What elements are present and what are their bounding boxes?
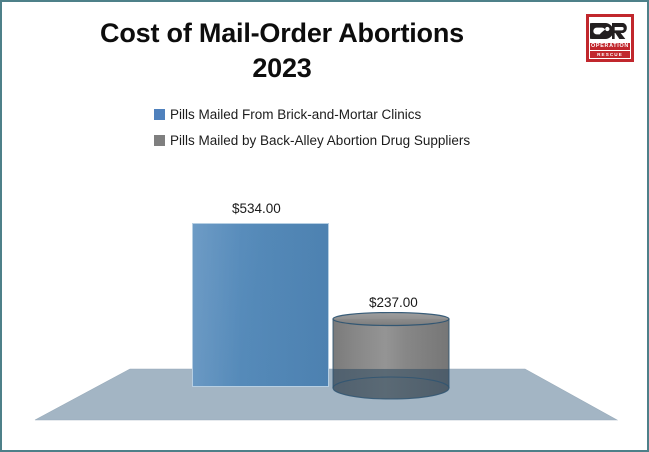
bar-gray-suppliers[interactable] [332,312,450,402]
data-label-gray: $237.00 [369,295,418,310]
data-label-blue: $534.00 [232,201,281,216]
bar-blue-clinics[interactable] [192,223,329,387]
plot-area: $534.00 [2,2,649,452]
chart-frame: Cost of Mail-Order Abortions 2023 OPERAT… [0,0,649,452]
bar-blue-shading [193,224,328,386]
